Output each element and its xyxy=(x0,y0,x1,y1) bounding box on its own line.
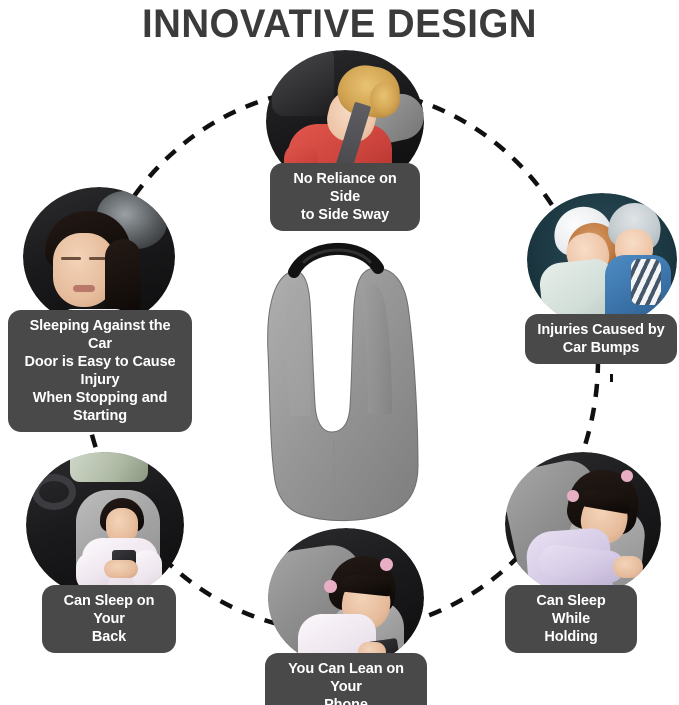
label-can-sleep-on-your-back[interactable]: Can Sleep on Your Back xyxy=(42,585,176,653)
photo-content xyxy=(505,452,661,596)
infographic-canvas: INNOVATIVE DESIGN No Reli xyxy=(0,0,679,705)
label-line: Door is Easy to Cause Injury xyxy=(19,353,181,389)
page-title: INNOVATIVE DESIGN xyxy=(14,2,666,46)
headrest xyxy=(272,50,334,116)
striped-shirt xyxy=(631,259,661,305)
hair-tie-right xyxy=(621,470,633,482)
photo-content xyxy=(268,528,424,668)
label-line: No Reliance on Side xyxy=(281,170,409,206)
label-line: Phone xyxy=(276,696,416,705)
hair-tie-left xyxy=(324,580,337,593)
label-no-reliance-on-side-to-side-sway[interactable]: No Reliance on Side to Side Sway xyxy=(270,163,420,231)
center-product-pillow xyxy=(264,228,426,528)
child-hands xyxy=(104,560,138,578)
photo-circle-sleeping-against-the-car-door[interactable] xyxy=(23,187,175,327)
photo-content xyxy=(23,187,175,327)
label-you-can-lean-on-your-phone[interactable]: You Can Lean on Your Phone xyxy=(265,653,427,705)
label-line: Can Sleep on Your xyxy=(53,592,165,628)
label-line: Back xyxy=(53,628,165,646)
label-line: Injuries Caused by xyxy=(536,321,666,339)
label-line: Can Sleep While xyxy=(516,592,626,628)
label-line: When Stopping and Starting xyxy=(19,389,181,425)
label-line: Holding xyxy=(516,628,626,646)
label-line: Sleeping Against the Car xyxy=(19,317,181,353)
label-can-sleep-while-holding[interactable]: Can Sleep While Holding xyxy=(505,585,637,653)
photo-circle-can-sleep-while-holding[interactable] xyxy=(505,452,661,596)
child-hands xyxy=(613,556,643,578)
label-line: to Side Sway xyxy=(281,206,409,224)
label-line: Car Bumps xyxy=(536,339,666,357)
photo-circle-injuries-caused-by-car-bumps[interactable] xyxy=(527,193,677,327)
label-line: You Can Lean on Your xyxy=(276,660,416,696)
steering-wheel xyxy=(32,474,76,510)
photo-circle-you-can-lean-on-your-phone[interactable] xyxy=(268,528,424,668)
child-hair-curl xyxy=(370,82,400,116)
photo-circle-can-sleep-on-your-back[interactable] xyxy=(26,452,184,598)
closed-eye-left xyxy=(61,257,81,260)
hair-tie-right xyxy=(380,558,393,571)
photo-content xyxy=(527,193,677,327)
windshield-view xyxy=(70,452,148,482)
label-sleeping-against-the-car-door[interactable]: Sleeping Against the Car Door is Easy to… xyxy=(8,310,192,432)
photo-content xyxy=(26,452,184,598)
mouth xyxy=(73,285,95,292)
connector-stem-right xyxy=(610,374,613,382)
hair-tie-left xyxy=(567,490,579,502)
label-injuries-caused-by-car-bumps[interactable]: Injuries Caused by Car Bumps xyxy=(525,314,677,364)
